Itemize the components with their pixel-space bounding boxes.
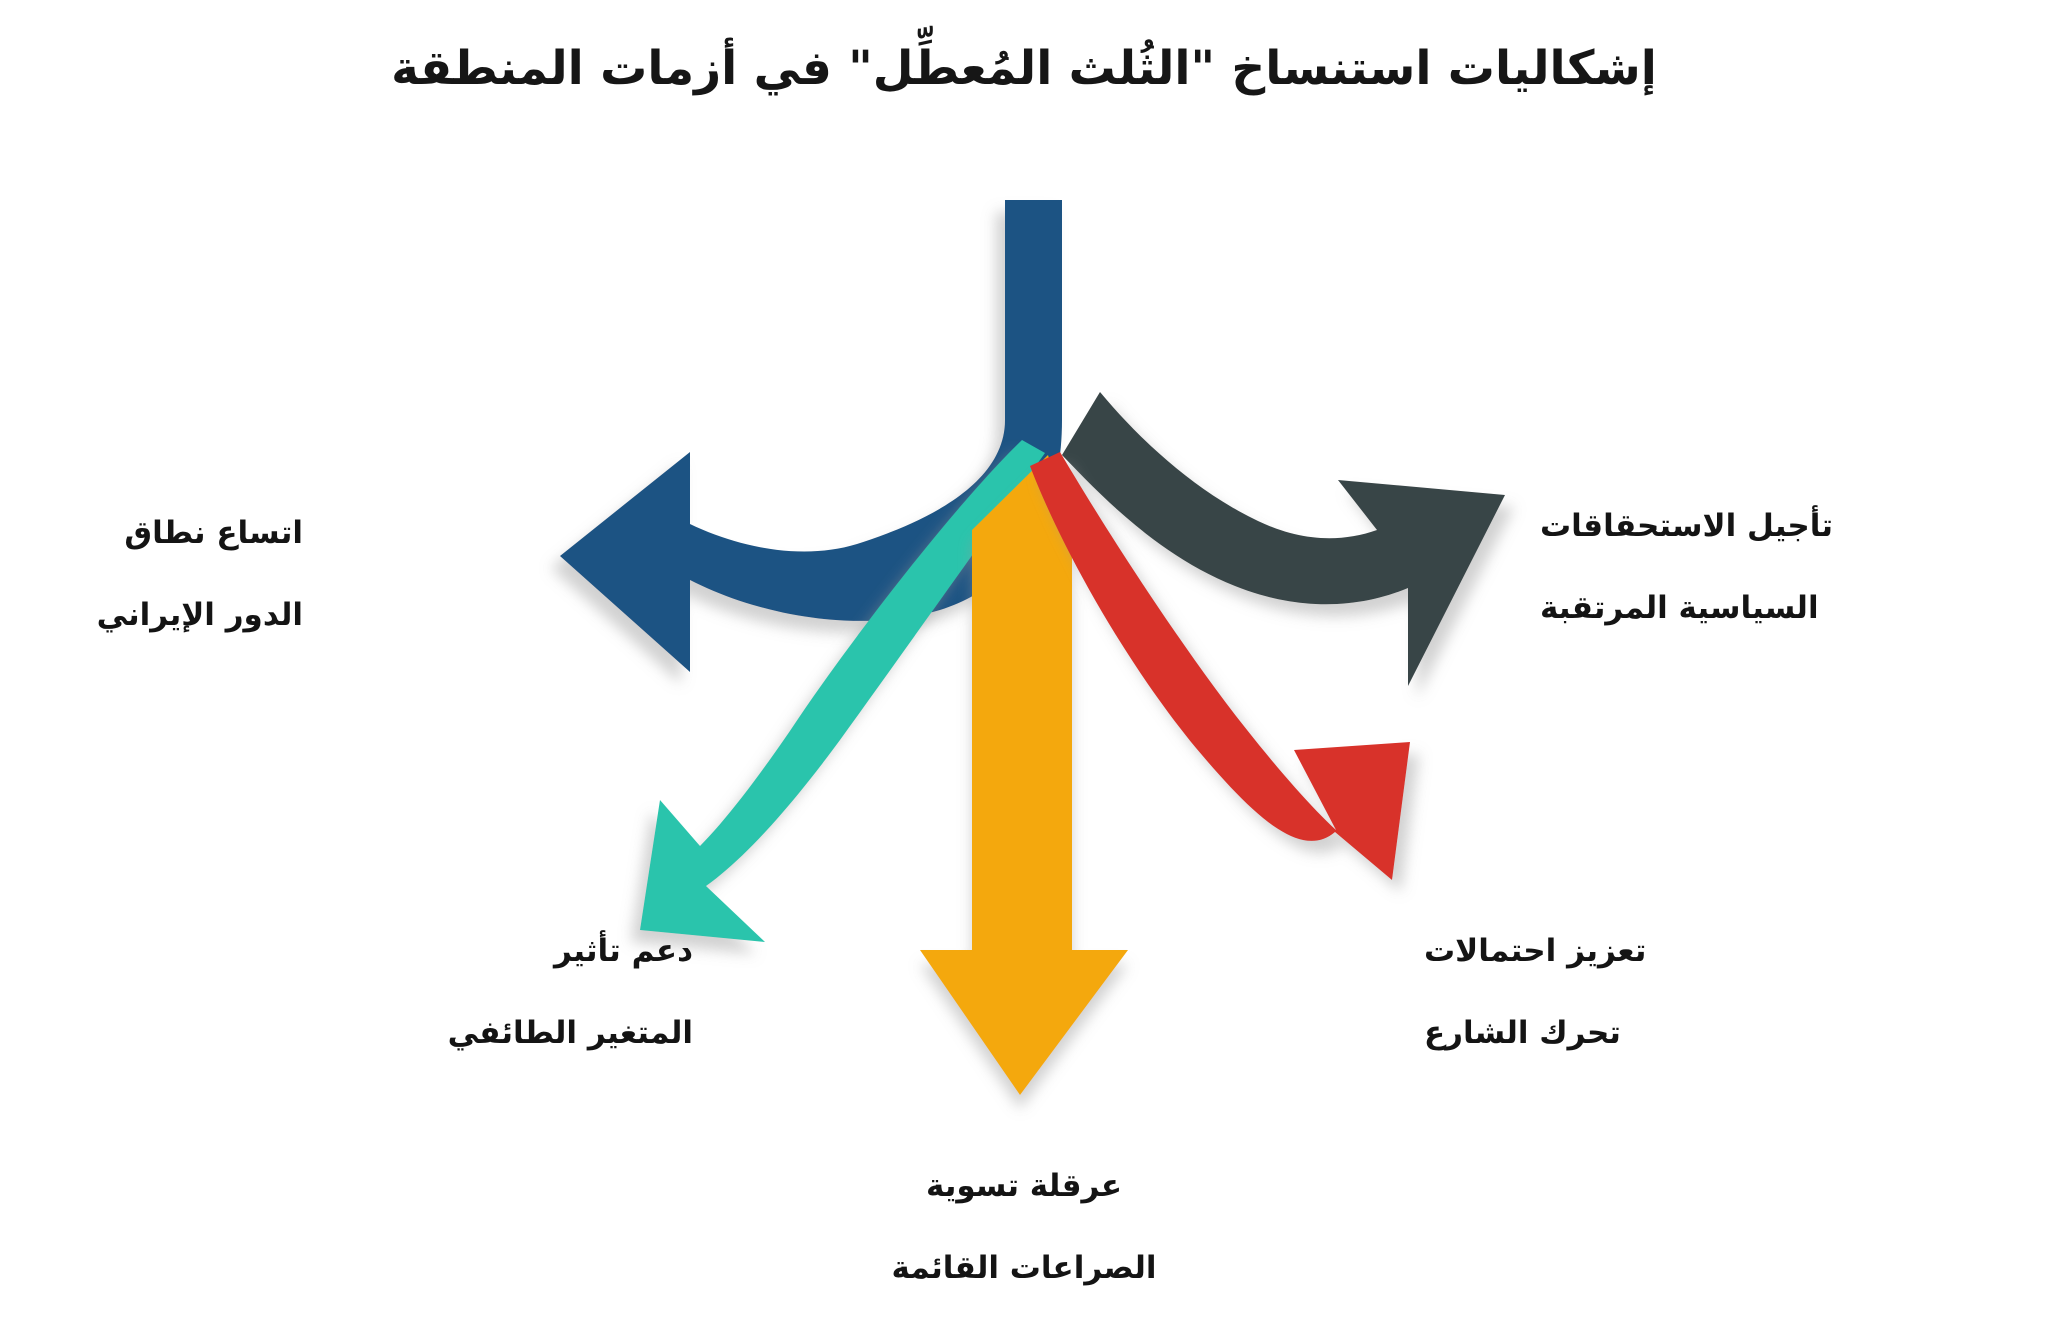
label-iranian-role: اتساع نطاق الدور الإيراني <box>3 472 303 677</box>
label-street-movement-line1: تعزيز احتمالات <box>1424 931 1754 972</box>
label-street-movement: تعزيز احتمالات تحرك الشارع <box>1424 890 1754 1095</box>
infographic-canvas: إشكاليات استنساخ "الثُلث المُعطِّل" في أ… <box>0 0 2048 1257</box>
label-existing-conflicts: عرقلة تسوية الصراعات القائمة <box>0 1125 2048 1330</box>
label-iranian-role-line2: الدور الإيراني <box>3 595 303 636</box>
label-street-movement-line2: تحرك الشارع <box>1424 1013 1754 1054</box>
label-political-entitlements-line2: السياسية المرتقبة <box>1540 588 1880 629</box>
label-existing-conflicts-line2: الصراعات القائمة <box>0 1248 2048 1289</box>
label-political-entitlements-line1: تأجيل الاستحقاقات <box>1540 506 1880 547</box>
label-political-entitlements: تأجيل الاستحقاقات السياسية المرتقبة <box>1540 465 1880 670</box>
label-sectarian-variable: دعم تأثير المتغير الطائفي <box>373 890 693 1095</box>
label-sectarian-variable-line1: دعم تأثير <box>373 931 693 972</box>
label-iranian-role-line1: اتساع نطاق <box>3 513 303 554</box>
label-existing-conflicts-line1: عرقلة تسوية <box>0 1166 2048 1207</box>
label-sectarian-variable-line2: المتغير الطائفي <box>373 1013 693 1054</box>
